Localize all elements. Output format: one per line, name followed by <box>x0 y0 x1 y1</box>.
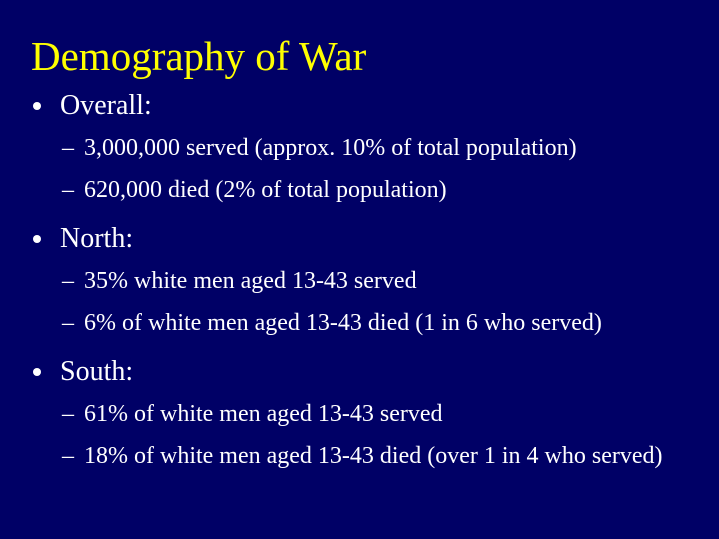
bullet-heading-overall: Overall: <box>0 86 719 125</box>
sub-bullet-item: – 6% of white men aged 13-43 died (1 in … <box>0 302 719 344</box>
sub-bullet-label: 18% of white men aged 13-43 died (over 1… <box>84 435 719 477</box>
bullet-dot-icon <box>33 368 41 376</box>
bullet-heading-north: North: <box>0 219 719 258</box>
sub-bullet-label: 6% of white men aged 13-43 died (1 in 6 … <box>84 302 719 344</box>
bullet-dot-icon <box>33 235 41 243</box>
sub-bullet-item: – 18% of white men aged 13-43 died (over… <box>0 435 719 477</box>
dash-bullet-icon: – <box>62 260 84 302</box>
bullet-section-overall: Overall: – 3,000,000 served (approx. 10%… <box>0 86 719 211</box>
spacer <box>0 211 719 219</box>
sub-bullet-item: – 35% white men aged 13-43 served <box>0 260 719 302</box>
sub-bullet-label: 3,000,000 served (approx. 10% of total p… <box>84 127 719 169</box>
dash-bullet-icon: – <box>62 302 84 344</box>
sub-bullet-item: – 3,000,000 served (approx. 10% of total… <box>0 127 719 169</box>
dash-bullet-icon: – <box>62 393 84 435</box>
bullet-section-north: North: – 35% white men aged 13-43 served… <box>0 219 719 344</box>
sub-bullet-list-south: – 61% of white men aged 13-43 served – 1… <box>0 393 719 477</box>
bullet-section-south: South: – 61% of white men aged 13-43 ser… <box>0 352 719 477</box>
sub-bullet-label: 35% white men aged 13-43 served <box>84 260 719 302</box>
sub-bullet-list-north: – 35% white men aged 13-43 served – 6% o… <box>0 260 719 344</box>
sub-bullet-label: 61% of white men aged 13-43 served <box>84 393 719 435</box>
spacer <box>0 344 719 352</box>
slide-body: Overall: – 3,000,000 served (approx. 10%… <box>0 86 719 477</box>
bullet-heading-label: Overall: <box>60 90 152 121</box>
bullet-heading-label: North: <box>60 223 133 254</box>
dash-bullet-icon: – <box>62 435 84 477</box>
sub-bullet-item: – 61% of white men aged 13-43 served <box>0 393 719 435</box>
sub-bullet-label: 620,000 died (2% of total population) <box>84 169 719 211</box>
presentation-slide: Demography of War Overall: – 3,000,000 s… <box>0 0 719 539</box>
bullet-heading-south: South: <box>0 352 719 391</box>
bullet-heading-label: South: <box>60 356 133 387</box>
dash-bullet-icon: – <box>62 169 84 211</box>
sub-bullet-list-overall: – 3,000,000 served (approx. 10% of total… <box>0 127 719 211</box>
bullet-dot-icon <box>33 102 41 110</box>
sub-bullet-item: – 620,000 died (2% of total population) <box>0 169 719 211</box>
slide-title: Demography of War <box>31 32 366 80</box>
dash-bullet-icon: – <box>62 127 84 169</box>
